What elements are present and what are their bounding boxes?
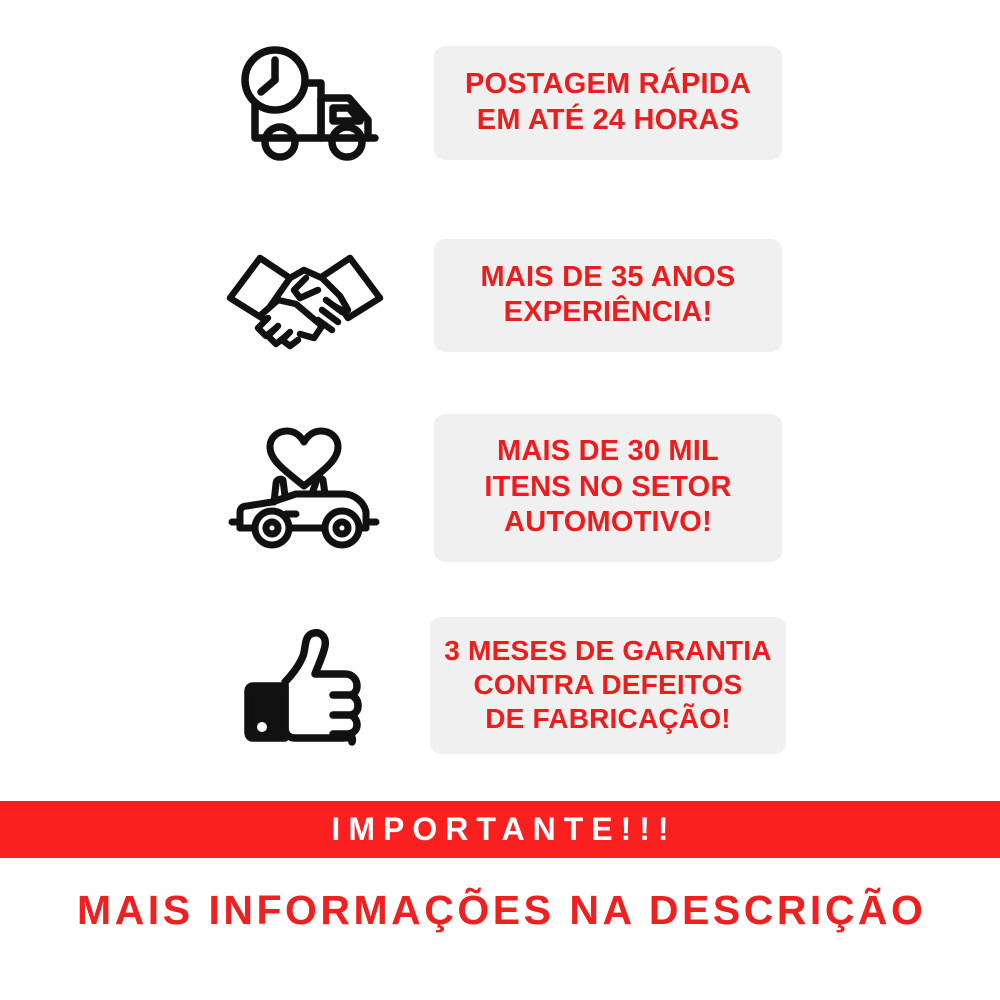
- thumbs-up-icon: [205, 624, 405, 746]
- feature-row: MAIS DE 30 MIL ITENS NO SETOR AUTOMOTIVO…: [0, 385, 1000, 590]
- feature-line: MAIS DE 30 MIL: [497, 434, 719, 469]
- car-heart-icon: [205, 424, 405, 552]
- footer-label: MAIS INFORMAÇÕES NA DESCRIÇÃO: [74, 887, 927, 934]
- feature-line: 3 MESES DE GARANTIA: [444, 634, 771, 668]
- feature-line: AUTOMOTIVO!: [504, 505, 712, 540]
- feature-line: MAIS DE 35 ANOS: [481, 260, 736, 295]
- delivery-truck-clock-icon: [205, 42, 405, 164]
- important-banner: IMPORTANTE!!!: [0, 801, 1000, 858]
- feature-line: DE FABRICAÇÃO!: [485, 702, 730, 736]
- feature-line: EXPERIÊNCIA!: [504, 295, 713, 330]
- handshake-icon: [205, 240, 405, 350]
- feature-line: ITENS NO SETOR: [484, 470, 731, 505]
- feature-text-shipping: POSTAGEM RÁPIDA EM ATÉ 24 HORAS: [434, 46, 782, 160]
- feature-text-warranty: 3 MESES DE GARANTIA CONTRA DEFEITOS DE F…: [430, 617, 786, 754]
- feature-line: POSTAGEM RÁPIDA: [465, 67, 751, 102]
- feature-row: 3 MESES DE GARANTIA CONTRA DEFEITOS DE F…: [0, 590, 1000, 780]
- description-callout: MAIS INFORMAÇÕES NA DESCRIÇÃO: [0, 880, 1000, 940]
- important-label: IMPORTANTE!!!: [323, 811, 676, 848]
- promo-banner-page: POSTAGEM RÁPIDA EM ATÉ 24 HORAS: [0, 0, 1000, 1000]
- feature-line: EM ATÉ 24 HORAS: [477, 103, 739, 138]
- feature-line: CONTRA DEFEITOS: [473, 668, 742, 702]
- feature-text-catalog: MAIS DE 30 MIL ITENS NO SETOR AUTOMOTIVO…: [434, 414, 782, 562]
- feature-row: POSTAGEM RÁPIDA EM ATÉ 24 HORAS: [0, 0, 1000, 205]
- feature-text-experience: MAIS DE 35 ANOS EXPERIÊNCIA!: [434, 239, 782, 352]
- feature-list: POSTAGEM RÁPIDA EM ATÉ 24 HORAS: [0, 0, 1000, 780]
- feature-row: MAIS DE 35 ANOS EXPERIÊNCIA!: [0, 205, 1000, 385]
